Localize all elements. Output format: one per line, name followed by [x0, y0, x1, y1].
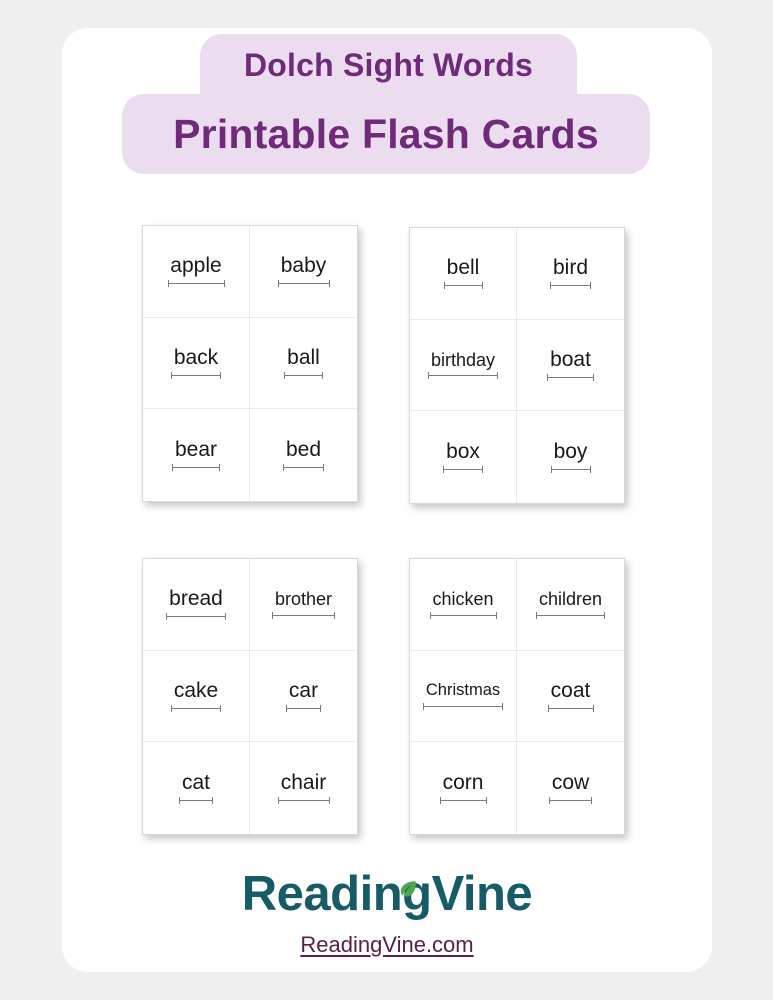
flash-card-word: bear — [175, 439, 217, 461]
rule-tick-right — [329, 797, 330, 804]
writing-rule-line — [168, 280, 225, 287]
flash-card-cell[interactable]: cow — [517, 742, 624, 834]
flash-card-word: baby — [281, 255, 327, 277]
writing-rule-line — [172, 464, 220, 471]
page-title-line2: Printable Flash Cards — [173, 114, 599, 155]
rule-bar — [423, 706, 503, 707]
flash-card-cell[interactable]: bread — [143, 559, 250, 651]
flash-card-grid: applebabybackballbearbed — [142, 225, 358, 502]
flash-card-cell[interactable]: boy — [517, 411, 624, 503]
writing-rule-line — [423, 703, 503, 710]
flash-card-word: chair — [281, 772, 327, 794]
flash-card-cell[interactable]: back — [143, 318, 250, 410]
rule-tick-right — [320, 705, 321, 712]
rule-tick-right — [334, 612, 335, 619]
writing-rule-line — [443, 466, 483, 473]
flash-card-word: brother — [275, 590, 332, 609]
rule-tick-right — [224, 280, 225, 287]
flash-card-word: cake — [174, 680, 218, 702]
rule-bar — [550, 285, 591, 286]
flash-card-word: bird — [553, 257, 588, 279]
flash-card-cell[interactable]: bell — [410, 228, 517, 320]
flash-card-cell[interactable]: bird — [517, 228, 624, 320]
brand-url-link[interactable]: ReadingVine.com — [300, 932, 473, 958]
flash-card-word: Christmas — [426, 682, 500, 699]
writing-rule-line — [278, 797, 330, 804]
flash-card-word: cow — [552, 772, 589, 794]
flash-card-cell[interactable]: car — [250, 651, 357, 743]
rule-bar — [444, 285, 483, 286]
rule-tick-right — [590, 466, 591, 473]
writing-rule-line — [171, 372, 221, 379]
flash-card-grids: applebabybackballbearbedbellbirdbirthday… — [62, 28, 712, 972]
writing-rule-line — [272, 612, 335, 619]
rule-tick-right — [482, 466, 483, 473]
writing-rule-line — [284, 372, 323, 379]
writing-rule-line — [171, 705, 221, 712]
flash-card-cell[interactable]: ball — [250, 318, 357, 410]
rule-bar — [536, 615, 605, 616]
rule-bar — [284, 375, 323, 376]
flash-card-cell[interactable]: brother — [250, 559, 357, 651]
writing-rule-line — [166, 613, 226, 620]
rule-tick-right — [323, 464, 324, 471]
rule-bar — [166, 616, 226, 617]
flash-card-word: bell — [447, 257, 480, 279]
rule-bar — [428, 375, 498, 376]
flash-card-word: box — [446, 441, 480, 463]
writing-rule-line — [444, 282, 483, 289]
rule-tick-right — [220, 705, 221, 712]
rule-tick-right — [322, 372, 323, 379]
flash-card-cell[interactable]: cat — [143, 742, 250, 834]
flash-card-cell[interactable]: baby — [250, 226, 357, 318]
rule-bar — [171, 708, 221, 709]
rule-bar — [549, 800, 592, 801]
rule-bar — [286, 708, 321, 709]
rule-tick-right — [486, 797, 487, 804]
writing-rule-line — [536, 612, 605, 619]
rule-tick-right — [591, 797, 592, 804]
rule-tick-right — [329, 280, 330, 287]
flash-card-word: car — [289, 680, 318, 702]
rule-tick-right — [496, 612, 497, 619]
flash-card-grid: bellbirdbirthdayboatboxboy — [409, 227, 625, 504]
rule-tick-right — [590, 282, 591, 289]
rule-bar — [278, 800, 330, 801]
flash-card-cell[interactable]: coat — [517, 651, 624, 743]
writing-rule-line — [440, 797, 487, 804]
flash-card-word: apple — [170, 255, 221, 277]
writing-rule-line — [549, 797, 592, 804]
flash-card-word: bed — [286, 439, 321, 461]
writing-rule-line — [548, 705, 594, 712]
writing-rule-line — [179, 797, 213, 804]
rule-bar — [272, 615, 335, 616]
page-title-line1: Dolch Sight Words — [244, 49, 533, 81]
flash-card-cell[interactable]: chair — [250, 742, 357, 834]
flash-card-cell[interactable]: birthday — [410, 320, 517, 412]
rule-tick-right — [593, 705, 594, 712]
flash-card-word: children — [539, 590, 602, 609]
flash-card-cell[interactable]: Christmas — [410, 651, 517, 743]
writing-rule-line — [428, 372, 498, 379]
flash-card-cell[interactable]: boat — [517, 320, 624, 412]
rule-tick-right — [593, 374, 594, 381]
flash-card-cell[interactable]: box — [410, 411, 517, 503]
writing-rule-line — [430, 612, 497, 619]
printable-page-sheet: Dolch Sight Words Printable Flash Cards … — [62, 28, 712, 972]
flash-card-cell[interactable]: cake — [143, 651, 250, 743]
brand-logo: ReadingVine — [242, 870, 532, 919]
flash-card-cell[interactable]: apple — [143, 226, 250, 318]
rule-bar — [171, 375, 221, 376]
writing-rule-line — [547, 374, 594, 381]
rule-tick-right — [497, 372, 498, 379]
rule-tick-right — [225, 613, 226, 620]
flash-card-cell[interactable]: chicken — [410, 559, 517, 651]
rule-tick-right — [212, 797, 213, 804]
rule-bar — [443, 469, 483, 470]
rule-tick-right — [502, 703, 503, 710]
flash-card-word: boy — [554, 441, 588, 463]
flash-card-cell[interactable]: corn — [410, 742, 517, 834]
brand-logo-text: ReadingVine — [242, 867, 532, 921]
writing-rule-line — [283, 464, 324, 471]
flash-card-word: boat — [550, 349, 591, 371]
flash-card-word: corn — [443, 772, 484, 794]
flash-card-word: birthday — [431, 351, 495, 370]
writing-rule-line — [551, 466, 591, 473]
rule-bar — [440, 800, 487, 801]
footer: ReadingVine ReadingVine.com — [62, 870, 712, 958]
flash-card-grid: chickenchildrenChristmascoatcorncow — [409, 558, 625, 835]
flash-card-word: back — [174, 347, 218, 369]
rule-bar — [547, 377, 594, 378]
writing-rule-line — [550, 282, 591, 289]
rule-tick-right — [482, 282, 483, 289]
rule-bar — [551, 469, 591, 470]
flash-card-grid: breadbrothercakecarcatchair — [142, 558, 358, 835]
rule-bar — [172, 467, 220, 468]
leaf-icon — [398, 859, 418, 879]
flash-card-cell[interactable]: children — [517, 559, 624, 651]
flash-card-word: chicken — [432, 590, 493, 609]
rule-bar — [278, 283, 330, 284]
rule-bar — [430, 615, 497, 616]
rule-tick-right — [604, 612, 605, 619]
flash-card-word: bread — [169, 588, 223, 610]
flash-card-word: ball — [287, 347, 320, 369]
rule-tick-right — [220, 372, 221, 379]
flash-card-word: cat — [182, 772, 210, 794]
writing-rule-line — [278, 280, 330, 287]
rule-tick-right — [219, 464, 220, 471]
flash-card-cell[interactable]: bed — [250, 409, 357, 501]
flash-card-cell[interactable]: bear — [143, 409, 250, 501]
flash-card-word: coat — [551, 680, 591, 702]
rule-bar — [283, 467, 324, 468]
rule-bar — [168, 283, 225, 284]
writing-rule-line — [286, 705, 321, 712]
rule-bar — [548, 708, 594, 709]
rule-bar — [179, 800, 213, 801]
